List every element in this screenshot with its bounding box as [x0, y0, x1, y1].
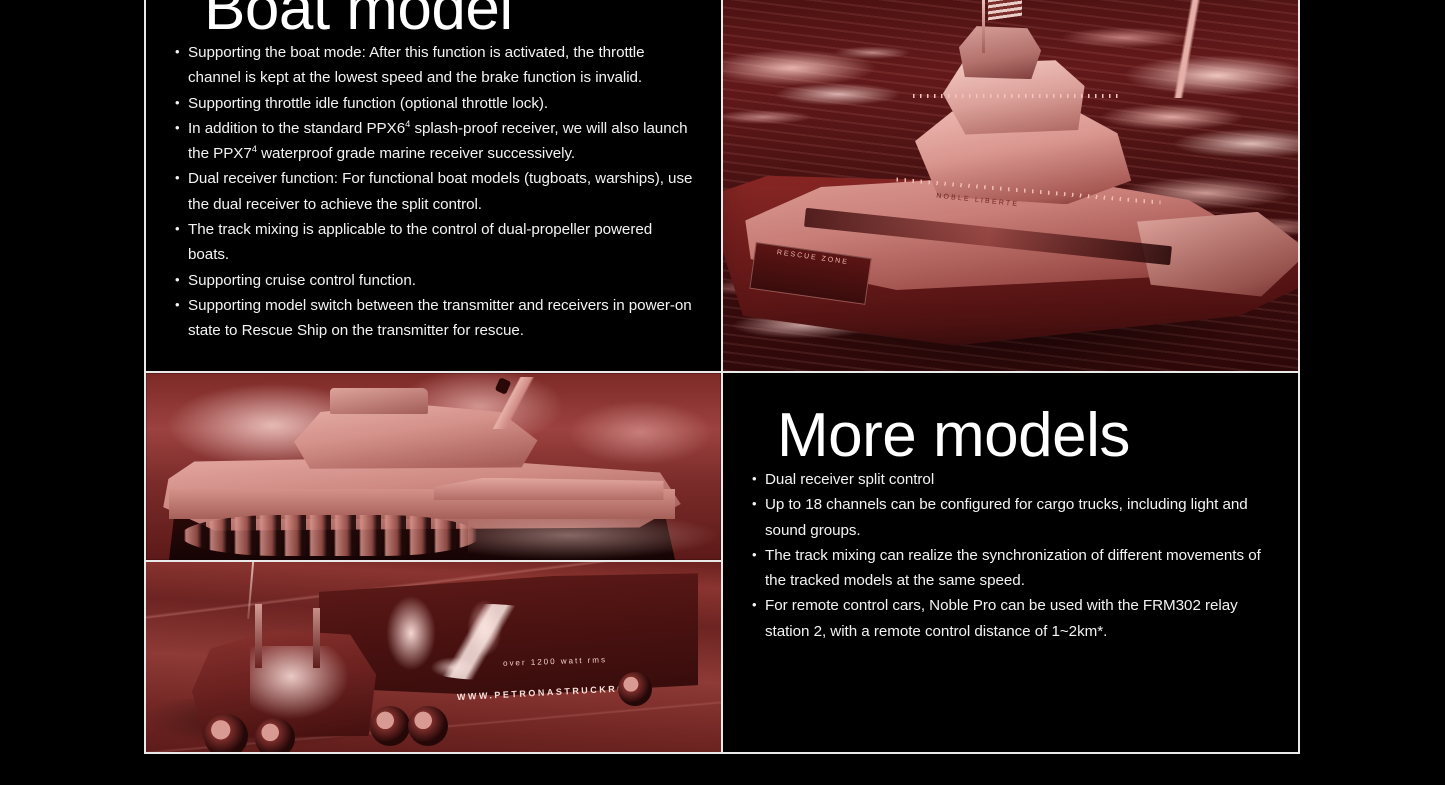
- boat-model-bullet-list: Supporting the boat mode: After this fun…: [174, 40, 696, 344]
- list-item: In addition to the standard PPX64 splash…: [174, 116, 696, 167]
- exhaust-stack-right: [313, 608, 320, 669]
- more-models-text-panel: More models Dual receiver split control …: [723, 373, 1298, 752]
- boat-model-text-panel: Boat model Supporting the boat mode: Aft…: [146, 0, 723, 373]
- tank-photo-art: [146, 373, 721, 560]
- ship-photo-art: RESCUE ZONE NOBLE LIBERTE: [723, 0, 1298, 371]
- list-item: Dual receiver split control: [751, 467, 1275, 492]
- ship-crane-boom: [1057, 0, 1299, 98]
- tank-gun-barrel: [445, 377, 595, 429]
- boat-model-title: Boat model: [204, 0, 693, 40]
- list-item: The track mixing is applicable to the co…: [174, 217, 696, 268]
- more-models-title: More models: [777, 373, 1270, 467]
- tank-fender: [434, 478, 664, 500]
- list-item: Supporting the boat mode: After this fun…: [174, 40, 696, 91]
- list-item: The track mixing can realize the synchro…: [751, 543, 1275, 594]
- tank-photo: [146, 373, 723, 562]
- tank-cupola: [330, 388, 428, 414]
- content-frame: Boat model Supporting the boat mode: Aft…: [144, 0, 1300, 754]
- ship-photo: RESCUE ZONE NOBLE LIBERTE: [723, 0, 1298, 373]
- truck-wheel: [204, 714, 248, 752]
- truck-wheel: [618, 672, 652, 706]
- tank-water-splash: [468, 519, 721, 560]
- more-models-bullet-list: Dual receiver split control Up to 18 cha…: [751, 467, 1275, 644]
- tank-road-wheels: [181, 515, 480, 556]
- list-item: Up to 18 channels can be configured for …: [751, 492, 1275, 543]
- list-item: For remote control cars, Noble Pro can b…: [751, 593, 1275, 644]
- truck-photo: over 1200 watt rms WWW.PETRONASTRUCKRC.I…: [146, 562, 723, 752]
- list-item: Supporting model switch between the tran…: [174, 293, 696, 344]
- truck-photo-art: over 1200 watt rms WWW.PETRONASTRUCKRC.I…: [146, 562, 721, 752]
- list-item: Supporting cruise control function.: [174, 268, 696, 293]
- list-item: Supporting throttle idle function (optio…: [174, 91, 696, 116]
- cab-airbrush-art: [250, 646, 354, 722]
- exhaust-stack-left: [255, 604, 262, 669]
- list-item: Dual receiver function: For functional b…: [174, 166, 696, 217]
- ship-mast: [982, 0, 985, 53]
- truck-wheel: [408, 706, 448, 746]
- slide-root: Boat model Supporting the boat mode: Aft…: [0, 0, 1445, 785]
- trailer-swoosh-graphic: [388, 604, 584, 680]
